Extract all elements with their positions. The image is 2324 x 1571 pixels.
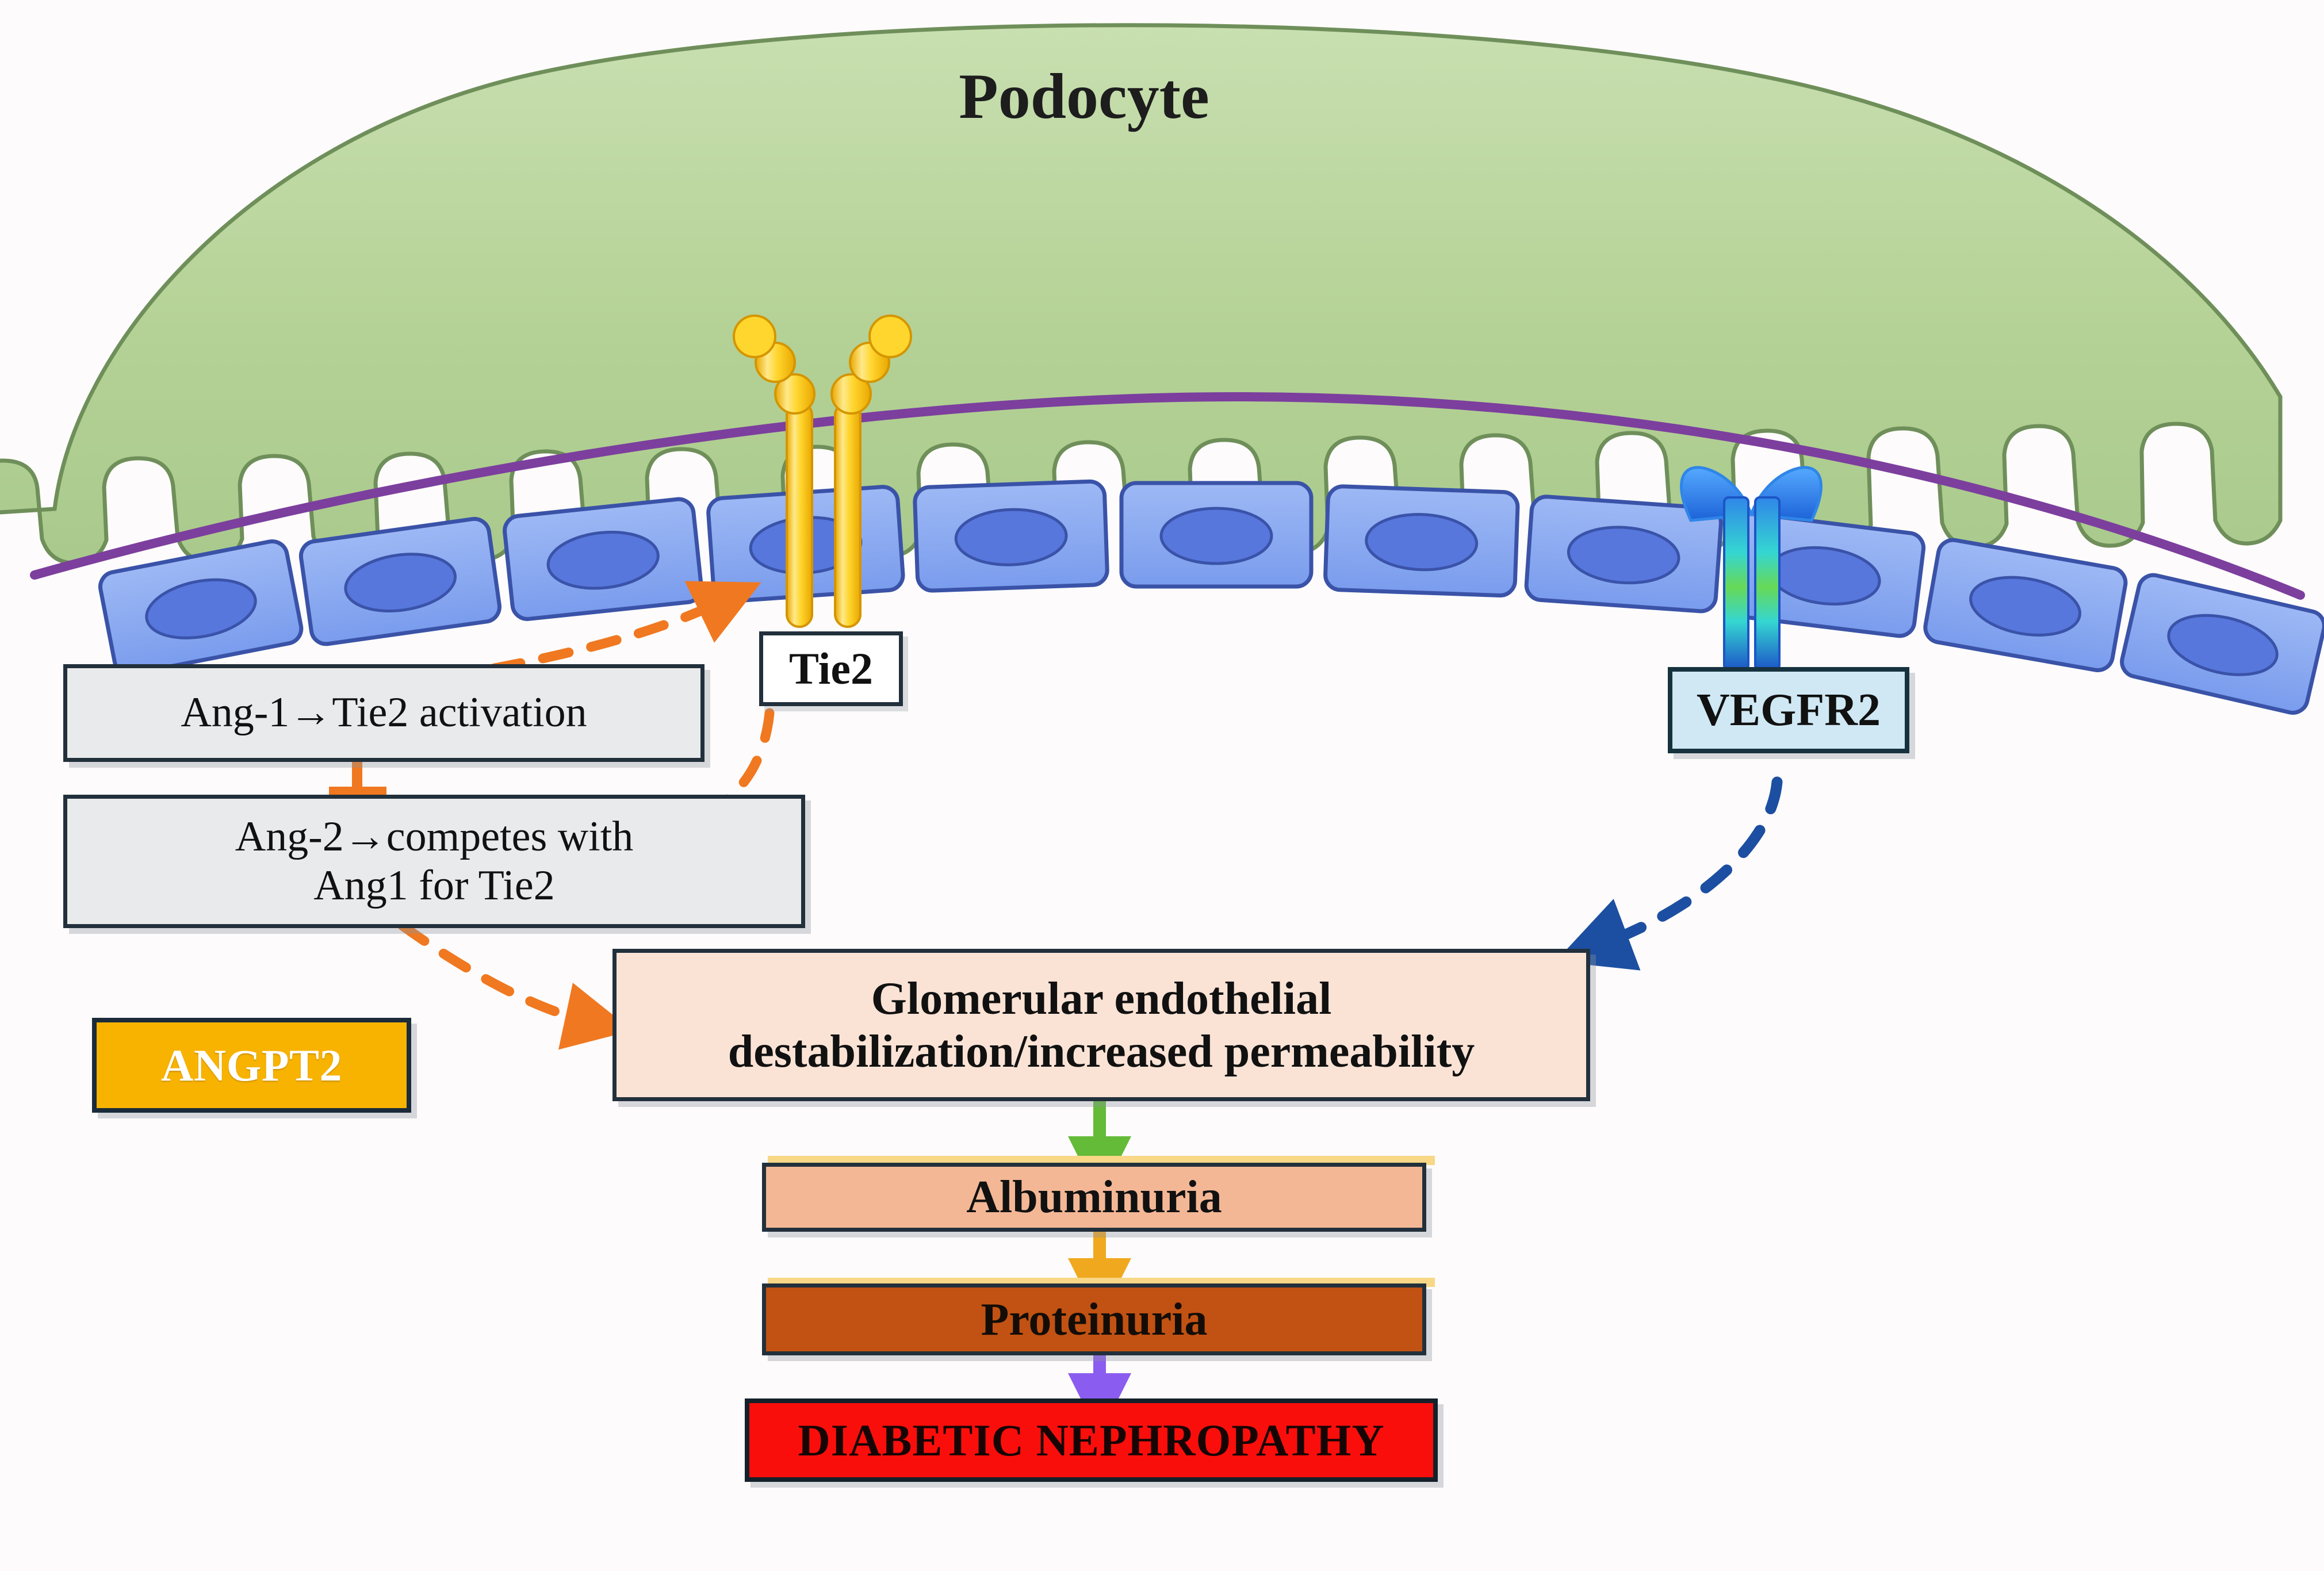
tie2-label-text: Tie2 [789, 643, 873, 695]
cell-nucleus [1161, 508, 1272, 564]
albuminuria-box[interactable]: Albuminuria [762, 1163, 1426, 1232]
ang2-box-line2: Ang1 for Tie2 [313, 861, 554, 910]
diabetic-nephropathy-box-text: DIABETIC NEPHROPATHY [798, 1415, 1384, 1466]
podocyte-label: Podocyte [959, 61, 1209, 132]
permeability-box[interactable]: Glomerular endothelial destabilization/i… [612, 949, 1590, 1101]
ang2-box-line1: Ang-2→competes with [235, 813, 634, 861]
connector-vegfr2-to-permeability [1605, 782, 1777, 943]
proteinuria-box-text: Proteinuria [981, 1293, 1207, 1346]
connector-ang1-inhibits-ang2 [329, 757, 386, 798]
tie2-label[interactable]: Tie2 [759, 631, 903, 706]
vegfr2-label[interactable]: VEGFR2 [1668, 667, 1909, 753]
ang1-box[interactable]: Ang-1→Tie2 activation [63, 664, 705, 762]
proteinuria-box[interactable]: Proteinuria [762, 1283, 1426, 1355]
angpt2-box-text: ANGPT2 [161, 1040, 342, 1091]
ang2-box[interactable]: Ang-2→competes with Ang1 for Tie2 [63, 795, 805, 928]
figure-canvas: Podocyte [0, 0, 2324, 1571]
permeability-box-line2: destabilization/increased permeability [728, 1025, 1475, 1078]
ang1-box-text: Ang-1→Tie2 activation [181, 688, 587, 737]
vegfr2-label-text: VEGFR2 [1697, 684, 1881, 737]
permeability-box-line1: Glomerular endothelial [871, 972, 1332, 1025]
albuminuria-box-text: Albuminuria [966, 1171, 1222, 1224]
diabetic-nephropathy-box[interactable]: DIABETIC NEPHROPATHY [745, 1398, 1438, 1482]
connector-ang2-to-permeability [403, 926, 587, 1021]
angpt2-box[interactable]: ANGPT2 [92, 1018, 411, 1113]
